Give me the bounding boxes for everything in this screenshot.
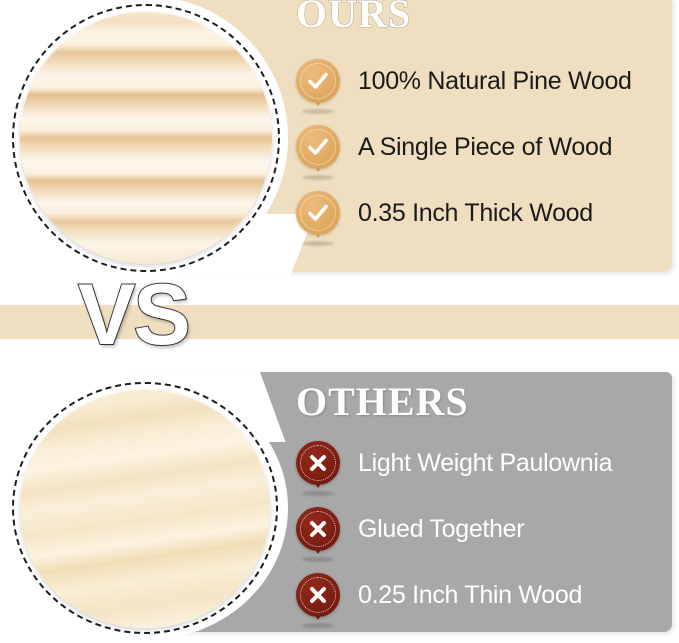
ours-feature-list: 100% Natural Pine Wood A Single Piece of… — [296, 48, 632, 246]
others-feature-label: 0.25 Inch Thin Wood — [358, 581, 582, 610]
badge-shadow — [302, 623, 334, 628]
cross-icon — [296, 573, 340, 617]
cross-icon — [296, 507, 340, 551]
badge-circle — [296, 59, 340, 103]
check-icon — [296, 59, 340, 103]
check-glyph — [305, 200, 331, 226]
check-glyph — [305, 68, 331, 94]
ours-feature-label: 100% Natural Pine Wood — [358, 67, 632, 96]
others-wood-dashed-outline — [12, 382, 278, 634]
badge-shadow — [302, 109, 334, 114]
badge-shadow — [302, 241, 334, 246]
ours-heading: OURS — [296, 0, 411, 36]
ours-feature-label: 0.35 Inch Thick Wood — [358, 199, 593, 228]
others-feature-list: Light Weight Paulownia Glued Together — [296, 430, 612, 628]
badge-circle — [296, 191, 340, 235]
badge-circle — [296, 573, 340, 617]
cross-icon — [296, 441, 340, 485]
others-feature-row: 0.25 Inch Thin Wood — [296, 562, 612, 628]
check-icon — [296, 191, 340, 235]
others-feature-row: Glued Together — [296, 496, 612, 562]
others-feature-row: Light Weight Paulownia — [296, 430, 612, 496]
badge-circle — [296, 441, 340, 485]
check-icon — [296, 125, 340, 169]
others-feature-label: Glued Together — [358, 515, 524, 544]
badge-shadow — [302, 491, 334, 496]
ours-feature-row: 0.35 Inch Thick Wood — [296, 180, 632, 246]
cross-glyph — [305, 582, 331, 608]
vs-label: VS — [78, 272, 189, 358]
ours-feature-row: A Single Piece of Wood — [296, 114, 632, 180]
check-glyph — [305, 134, 331, 160]
others-heading: OTHERS — [296, 380, 469, 424]
badge-shadow — [302, 175, 334, 180]
badge-circle — [296, 507, 340, 551]
ours-feature-label: A Single Piece of Wood — [358, 133, 612, 162]
ours-wood-dashed-outline — [12, 4, 280, 272]
badge-circle — [296, 125, 340, 169]
cross-glyph — [305, 516, 331, 542]
others-feature-label: Light Weight Paulownia — [358, 449, 612, 478]
cross-glyph — [305, 450, 331, 476]
ours-feature-row: 100% Natural Pine Wood — [296, 48, 632, 114]
badge-shadow — [302, 557, 334, 562]
